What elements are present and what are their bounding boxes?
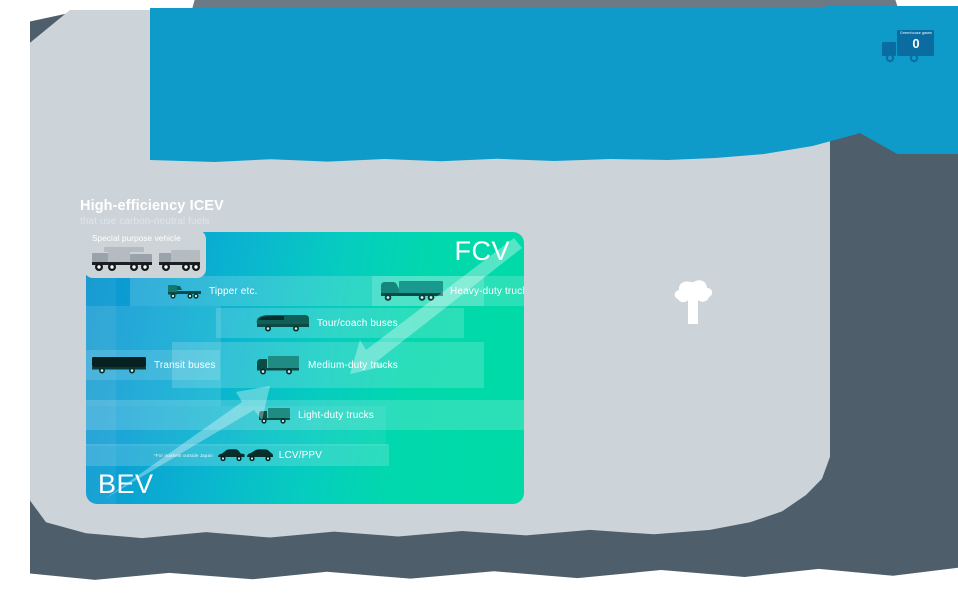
special-purpose-vehicle-label: Special purpose vehicle xyxy=(92,234,181,243)
band-label-heavy-duty-trucks: Heavy-duty trucks xyxy=(450,286,524,297)
infographic-canvas: Greenhouse gases 0 High-efficiency ICEV … xyxy=(0,0,958,599)
light-truck-icon xyxy=(258,406,292,425)
special-purpose-vehicle-group[interactable]: Special purpose vehicle xyxy=(84,230,206,278)
band-label-light-duty-trucks: Light-duty trucks xyxy=(298,410,374,421)
page-title: High-efficiency ICEV xyxy=(80,198,224,215)
band-light-duty-trucks[interactable]: Light-duty trucks xyxy=(86,400,524,430)
lcv-ppv-footnote: *For markets outside Japan xyxy=(154,453,213,458)
band-label-tipper: Tipper etc. xyxy=(209,286,258,297)
crane-truck-icon xyxy=(90,245,154,278)
transit-bus-icon xyxy=(90,355,148,375)
band-label-tour-coach-buses: Tour/coach buses xyxy=(317,318,398,329)
dump-truck-icon xyxy=(158,245,202,278)
page-subtitle: that use carbon-neutral fuels xyxy=(80,216,224,227)
band-label-lcv-ppv: LCV/PPV xyxy=(279,450,322,461)
band-label-medium-duty-trucks: Medium-duty trucks xyxy=(308,360,398,371)
medium-truck-icon xyxy=(256,355,302,376)
tipper-truck-icon xyxy=(168,283,202,300)
heavy-truck-icon xyxy=(380,280,444,302)
exhaust-plume-icon xyxy=(668,276,720,326)
bev-label: BEV xyxy=(98,471,154,498)
coach-bus-icon xyxy=(254,313,310,333)
band-lcv-ppv[interactable]: *For markets outside Japan LCV/PPV xyxy=(86,444,389,466)
headline-block: High-efficiency ICEV that use carbon-neu… xyxy=(80,198,224,227)
band-tour-coach-buses[interactable]: Tour/coach buses xyxy=(216,308,464,338)
pickup-suv-icon xyxy=(217,448,273,462)
fcv-label: FCV xyxy=(455,238,511,265)
greenhouse-gas-value: 0 xyxy=(898,37,934,50)
band-medium-duty-trucks[interactable]: Medium-duty trucks xyxy=(172,342,484,388)
band-heavy-duty-trucks[interactable]: Heavy-duty trucks xyxy=(372,276,524,306)
